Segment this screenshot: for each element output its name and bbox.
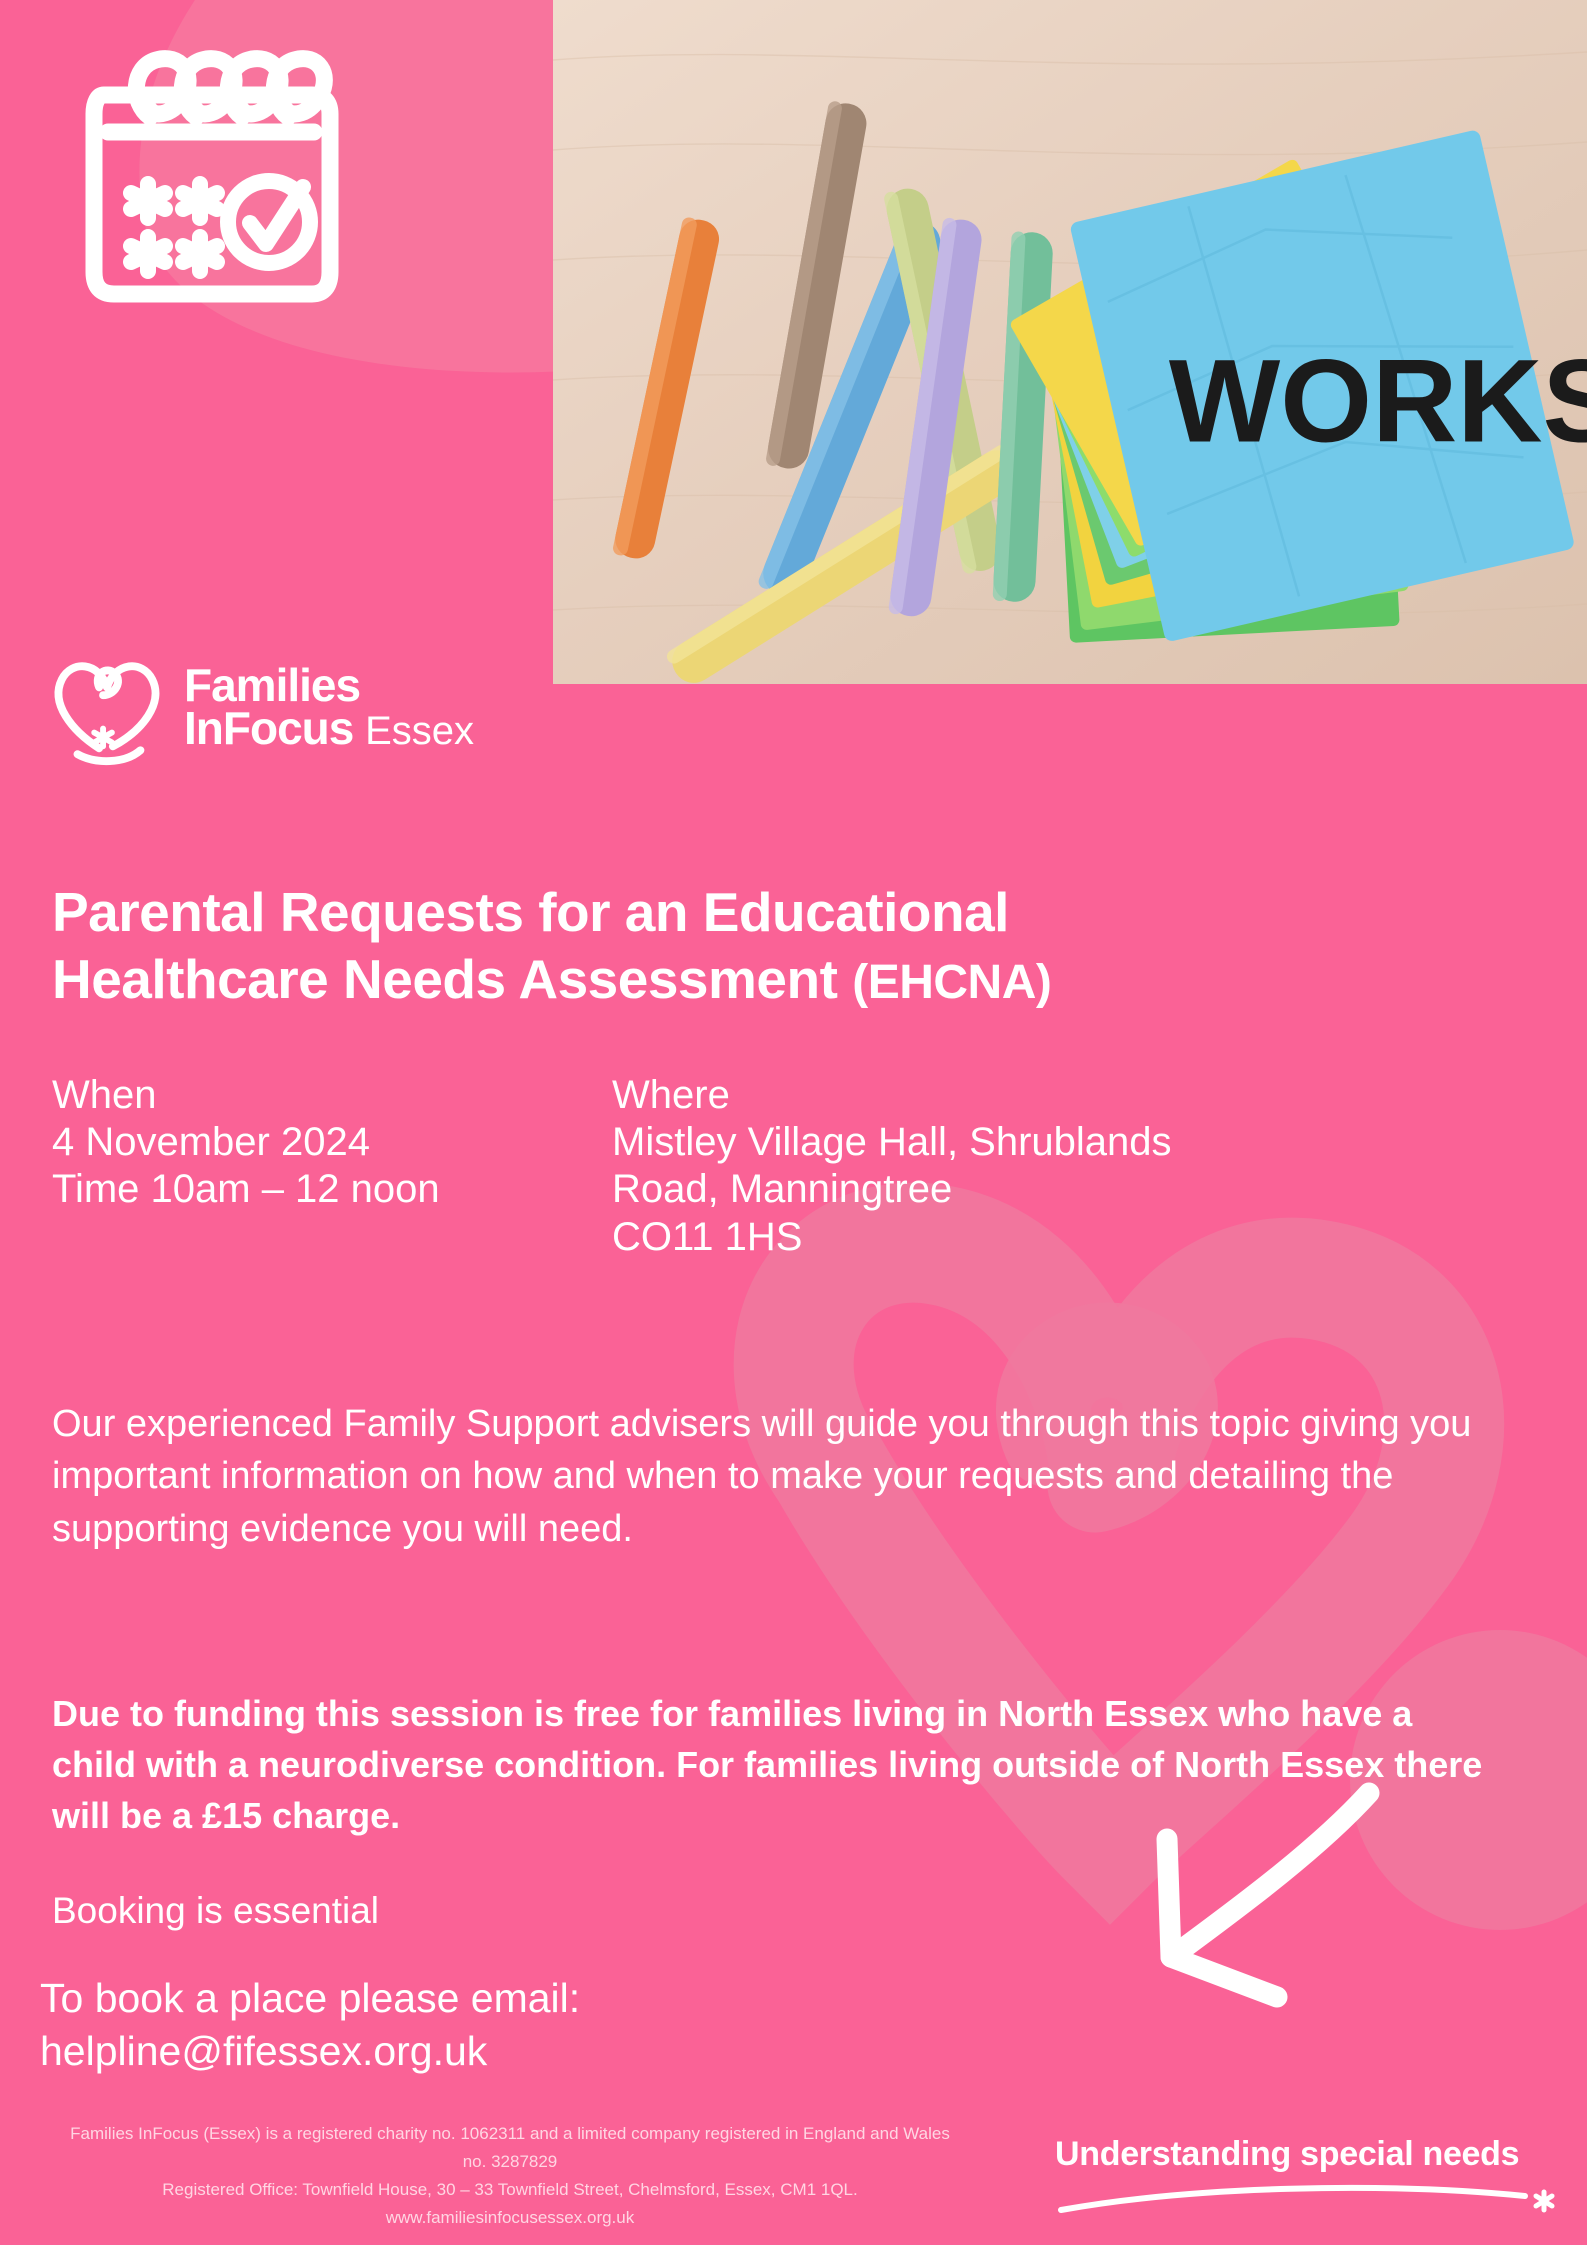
footer-legal-text: Families InFocus (Essex) is a registered… [0,2120,1020,2232]
workshop-sticky-notes-and-chalk-photo: WORKSHOP [553,0,1587,684]
asterisk-icon [1536,2192,1552,2210]
calendar-check-icon [60,22,360,322]
title-acronym: (EHCNA) [852,956,1051,1009]
logo-line-2: InFocus [184,702,353,754]
booking-email-label: To book a place please email: [40,1975,580,2021]
footer-line-1: Families InFocus (Essex) is a registered… [0,2120,1020,2148]
footer-line-2: no. 3287829 [0,2148,1020,2176]
tagline-text: Understanding special needs [1055,2135,1565,2174]
booking-essential-text: Booking is essential [52,1890,952,1932]
brand-logo: Families InFocus Essex [48,648,474,766]
tagline: Understanding special needs [1055,2135,1565,2218]
footer-website[interactable]: www.familiesinfocusessex.org.uk [0,2204,1020,2232]
where-label: Where [612,1072,1172,1119]
title-line-1: Parental Requests for an Educational [52,881,1009,943]
svg-text:WORKSHOP: WORKSHOP [1169,336,1587,468]
page-title: Parental Requests for an Educational Hea… [52,879,1552,1013]
where-line-1: Mistley Village Hall, Shrublands [612,1119,1172,1166]
when-time: Time 10am – 12 noon [52,1166,612,1213]
when-label: When [52,1072,612,1119]
booking-instructions: To book a place please email: helpline@f… [40,1972,940,2079]
swoosh-underline-icon [1055,2176,1565,2218]
poster-canvas: WORKSHOP Families InFocus Essex [0,0,1587,2245]
where-postcode: CO11 1HS [612,1214,1172,1261]
heart-swirl-icon [48,648,166,766]
where-line-2: Road, Manningtree [612,1166,1172,1213]
footer-line-3: Registered Office: Townfield House, 30 –… [0,2176,1020,2204]
title-line-2: Healthcare Needs Assessment [52,948,837,1010]
booking-email-address[interactable]: helpline@fifessex.org.uk [40,2028,487,2074]
description-paragraph: Our experienced Family Support advisers … [52,1398,1492,1555]
curved-arrow-down-left-icon [1115,1775,1415,2015]
event-when: When 4 November 2024 Time 10am – 12 noon [52,1072,612,1261]
event-where: Where Mistley Village Hall, Shrublands R… [612,1072,1172,1261]
when-date: 4 November 2024 [52,1119,612,1166]
event-details: When 4 November 2024 Time 10am – 12 noon… [52,1072,1532,1261]
logo-suffix: Essex [365,709,474,753]
